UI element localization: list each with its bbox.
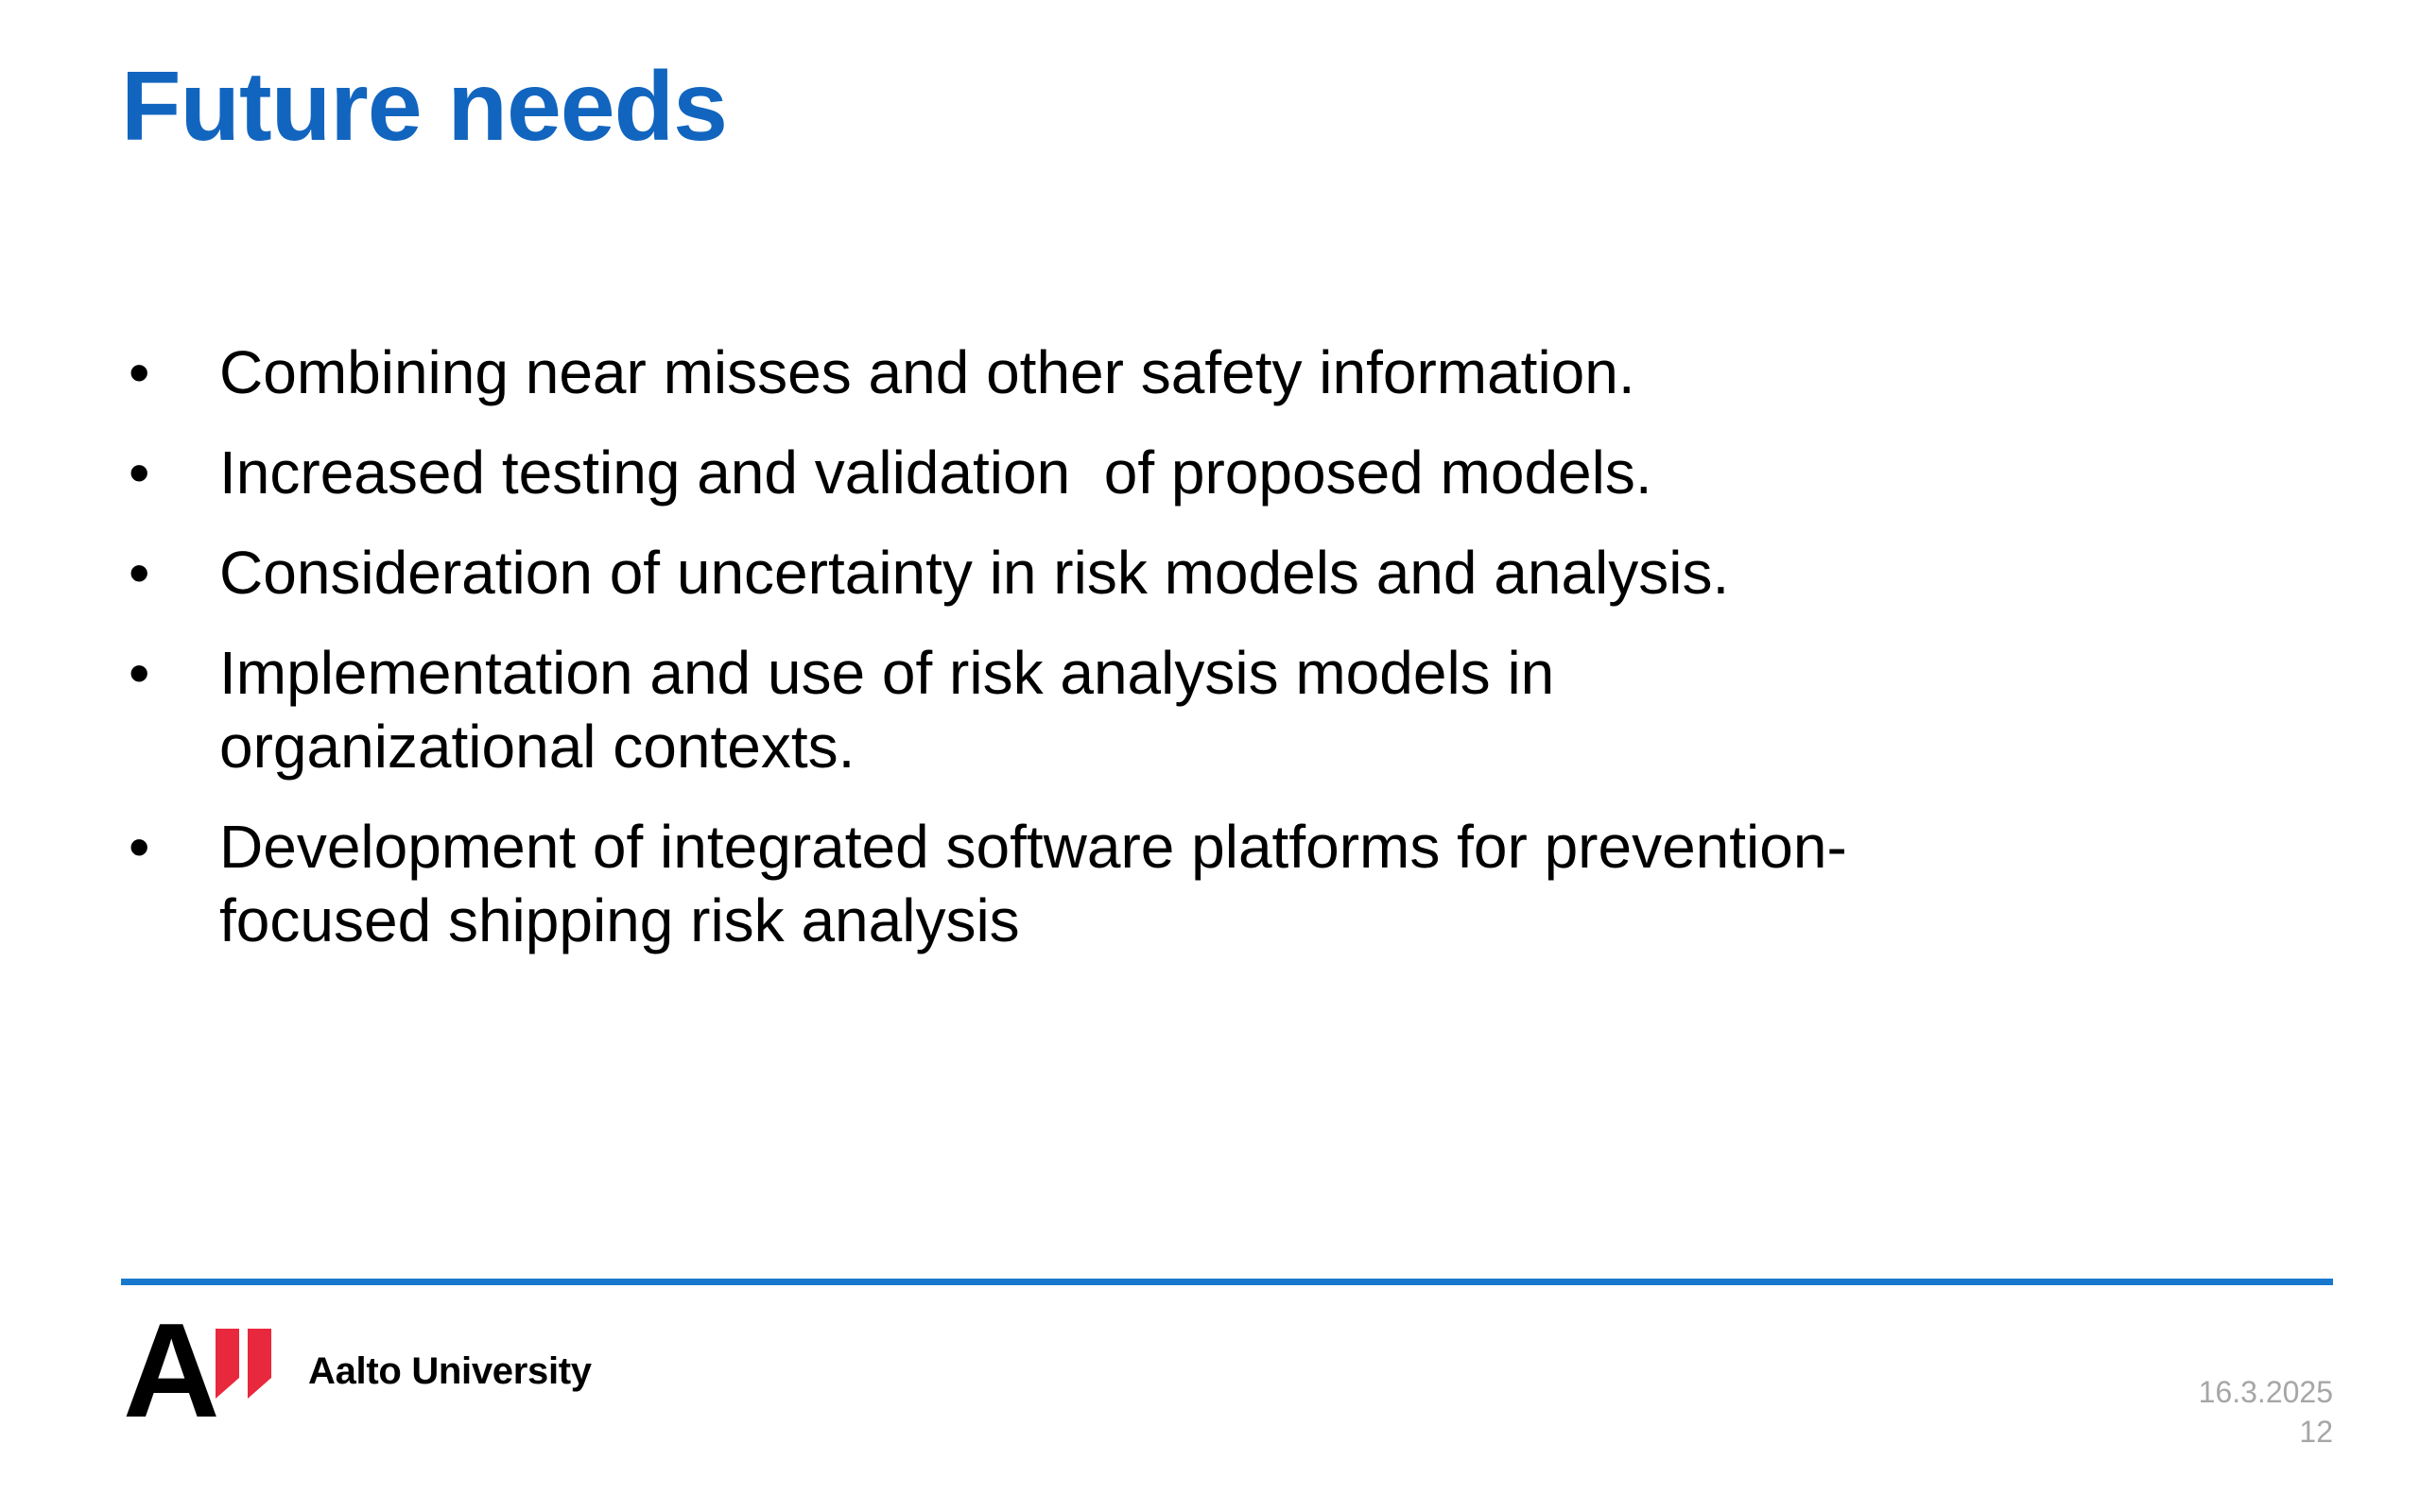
list-item: • Consideration of uncertainty in risk m… <box>121 536 2324 610</box>
aalto-university-logo: A Aalto University <box>123 1314 592 1427</box>
bullet-point-icon: • <box>121 436 219 509</box>
aalto-a-mark-icon: A <box>123 1315 284 1427</box>
page-title: Future needs <box>121 49 727 165</box>
slide-page-number: 12 <box>2199 1412 2333 1452</box>
bullet-point-icon: • <box>121 636 219 710</box>
quote-mark-right <box>248 1329 271 1378</box>
bullet-list: • Combining near misses and other safety… <box>121 335 2324 985</box>
list-item: • Implementation and use of risk analysi… <box>121 636 2324 783</box>
bullet-point-icon: • <box>121 810 219 884</box>
footer-meta: 16.3.2025 12 <box>2199 1372 2333 1452</box>
aalto-quote-marks-icon <box>216 1329 271 1378</box>
list-item-text: Development of integrated software platf… <box>219 810 1864 957</box>
logo-letter-a: A <box>123 1304 220 1438</box>
list-item-text: Implementation and use of risk analysis … <box>219 636 1864 783</box>
list-item-text: Increased testing and validation of prop… <box>219 436 2324 509</box>
logo-wordmark: Aalto University <box>308 1350 592 1393</box>
footer-divider <box>121 1279 2333 1285</box>
list-item-text: Combining near misses and other safety i… <box>219 335 2324 409</box>
list-item: • Combining near misses and other safety… <box>121 335 2324 409</box>
slide-date: 16.3.2025 <box>2199 1372 2333 1412</box>
list-item: • Development of integrated software pla… <box>121 810 2324 957</box>
quote-mark-left <box>216 1329 239 1378</box>
slide-canvas: Future needs • Combining near misses and… <box>0 0 2420 1512</box>
list-item-text: Consideration of uncertainty in risk mod… <box>219 536 2324 610</box>
bullet-point-icon: • <box>121 335 219 409</box>
list-item: • Increased testing and validation of pr… <box>121 436 2324 509</box>
bullet-point-icon: • <box>121 536 219 610</box>
